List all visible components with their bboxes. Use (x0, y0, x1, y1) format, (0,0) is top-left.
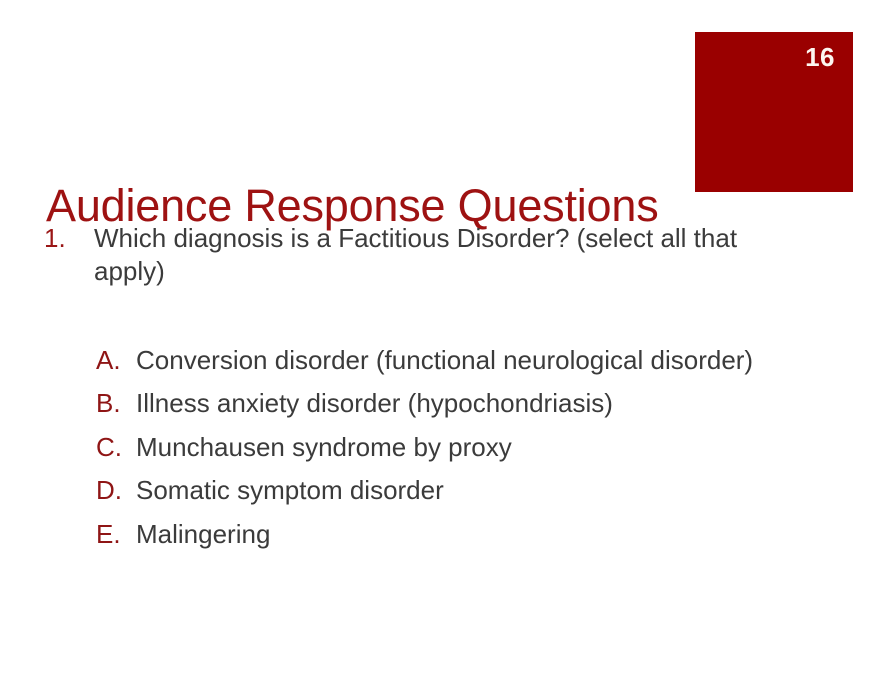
answer-options-list: A. Conversion disorder (functional neuro… (96, 344, 844, 551)
question-text: Which diagnosis is a Factitious Disorder… (94, 222, 794, 288)
answer-option-e[interactable]: E. Malingering (96, 518, 844, 551)
question-number: 1. (44, 222, 94, 255)
option-letter-e: E. (96, 518, 136, 551)
question-item: 1. Which diagnosis is a Factitious Disor… (44, 222, 844, 288)
option-letter-c: C. (96, 431, 136, 464)
answer-option-b[interactable]: B. Illness anxiety disorder (hypochondri… (96, 387, 844, 420)
option-text-e: Malingering (136, 518, 761, 551)
option-text-c: Munchausen syndrome by proxy (136, 431, 761, 464)
answer-option-d[interactable]: D. Somatic symptom disorder (96, 474, 844, 507)
answer-option-c[interactable]: C. Munchausen syndrome by proxy (96, 431, 844, 464)
option-letter-b: B. (96, 387, 136, 420)
option-letter-a: A. (96, 344, 136, 377)
presentation-slide: 16 Audience Response Questions 1. Which … (0, 0, 880, 680)
slide-body: 1. Which diagnosis is a Factitious Disor… (44, 222, 844, 561)
answer-option-a[interactable]: A. Conversion disorder (functional neuro… (96, 344, 844, 377)
option-text-b: Illness anxiety disorder (hypochondriasi… (136, 387, 761, 420)
option-text-a: Conversion disorder (functional neurolog… (136, 344, 761, 377)
option-text-d: Somatic symptom disorder (136, 474, 761, 507)
slide-number: 16 (805, 44, 835, 70)
option-letter-d: D. (96, 474, 136, 507)
slide-number-block: 16 (695, 32, 853, 192)
